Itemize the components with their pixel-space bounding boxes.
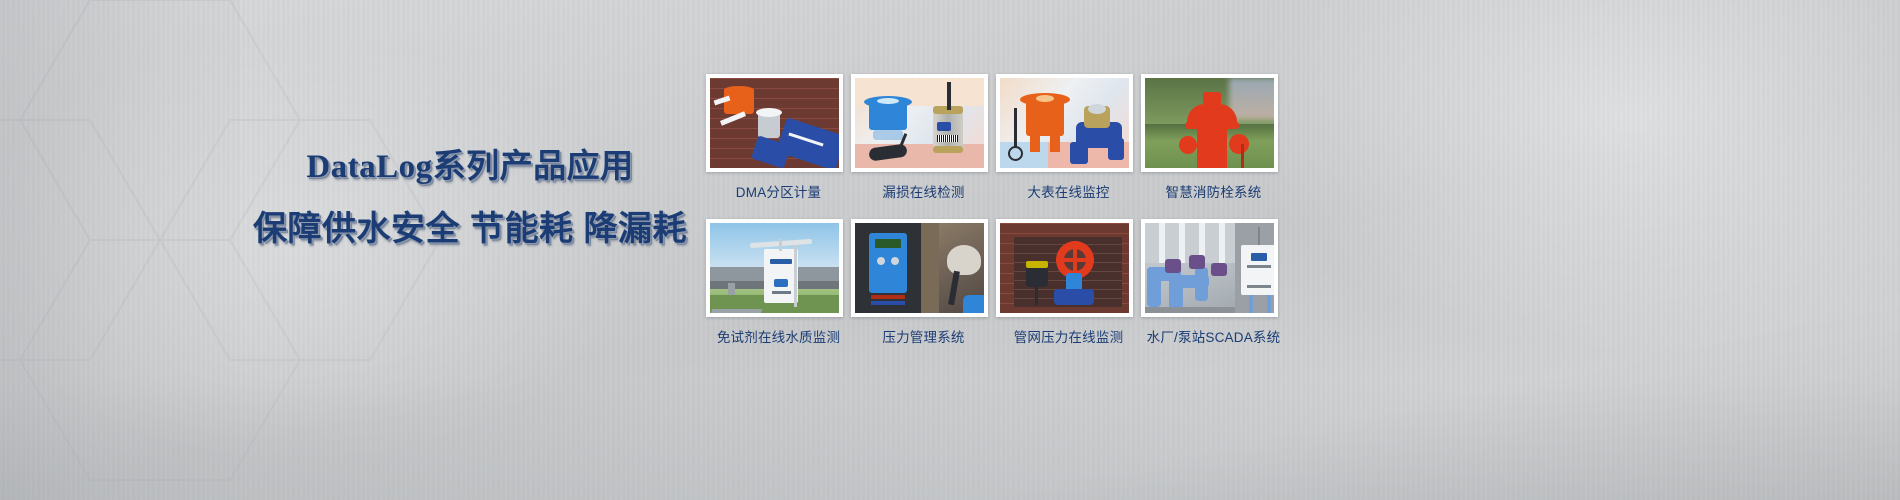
photo-frame: [706, 219, 843, 317]
bottom-vignette: [0, 380, 1900, 500]
grid-caption: 压力管理系统: [851, 326, 996, 346]
grid-caption: 大表在线监控: [996, 181, 1141, 201]
pipe-network-valve-photo: [1000, 223, 1129, 313]
photo-frame: [1141, 219, 1278, 317]
leak-detection-logger-photo: [855, 78, 984, 168]
grid-cell-pressure-management[interactable]: 压力管理系统: [851, 219, 996, 346]
photo-frame: [996, 74, 1133, 172]
grid-cell-water-quality[interactable]: 免试剂在线水质监测: [706, 219, 851, 346]
grid-cell-dma-flow-meter[interactable]: DMA分区计量: [706, 74, 851, 201]
photo-frame: [996, 219, 1133, 317]
grid-cell-leak-detection[interactable]: 漏损在线检测: [851, 74, 996, 201]
large-meter-monitor-photo: [1000, 78, 1129, 168]
grid-caption: 漏损在线检测: [851, 181, 996, 201]
product-application-grid: DMA分区计量: [706, 74, 1286, 346]
grid-caption: 管网压力在线监测: [996, 326, 1141, 346]
smart-fire-hydrant-photo: [1145, 78, 1274, 168]
pressure-management-cabinet-photo: [855, 223, 984, 313]
grid-caption: 智慧消防栓系统: [1141, 181, 1286, 201]
grid-row-2: 免试剂在线水质监测: [706, 219, 1286, 346]
grid-caption: DMA分区计量: [706, 181, 851, 201]
water-quality-station-photo: [710, 223, 839, 313]
photo-frame: [851, 219, 988, 317]
grid-cell-pipe-network-pressure[interactable]: 管网压力在线监测: [996, 219, 1141, 346]
grid-caption: 水厂/泵站SCADA系统: [1141, 326, 1286, 346]
photo-frame: [1141, 74, 1278, 172]
photo-frame: [851, 74, 988, 172]
dma-flow-meter-photo: [710, 78, 839, 168]
banner-background: DataLog系列产品应用 保障供水安全 节能耗 降漏耗: [0, 0, 1900, 500]
grid-caption: 免试剂在线水质监测: [706, 326, 851, 346]
grid-cell-smart-hydrant[interactable]: 智慧消防栓系统: [1141, 74, 1286, 201]
photo-frame: [706, 74, 843, 172]
grid-cell-large-meter[interactable]: 大表在线监控: [996, 74, 1141, 201]
pump-station-scada-photo: [1145, 223, 1274, 313]
grid-cell-scada-system[interactable]: 水厂/泵站SCADA系统: [1141, 219, 1286, 346]
grid-row-1: DMA分区计量: [706, 74, 1286, 201]
